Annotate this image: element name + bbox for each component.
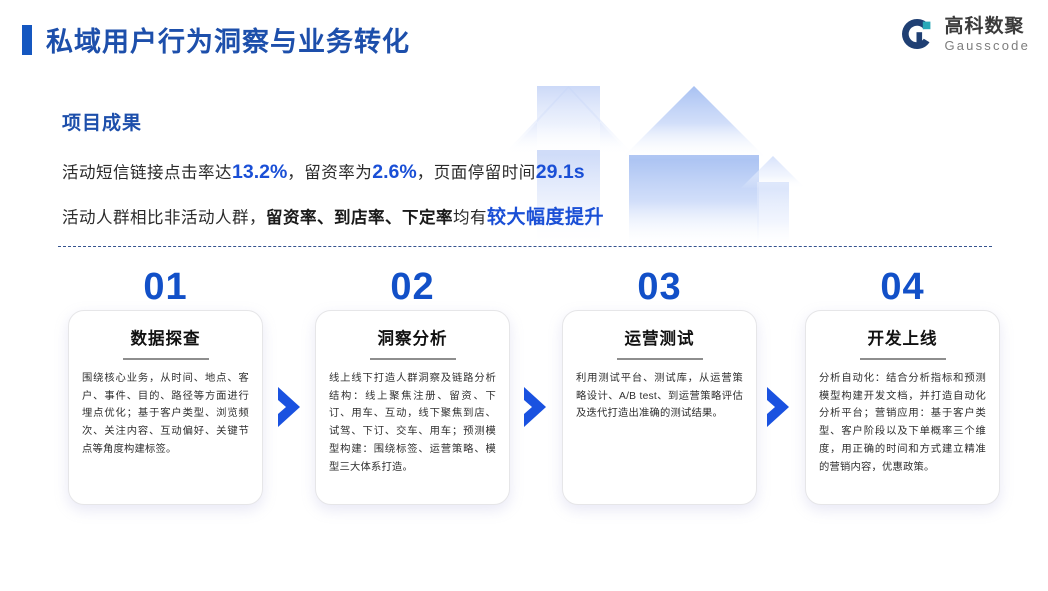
step-description-02: 线上线下打造人群洞察及链路分析结构：线上聚焦注册、留资、下订、用车、互动，线下聚… <box>329 370 496 476</box>
step-title-03: 运营测试 <box>576 325 743 349</box>
step-card-04[interactable]: 04 开发上线 分析自动化：结合分析指标和预测模型构建开发文档，并打造自动化分析… <box>805 268 1000 518</box>
logo-text: 高科数聚 Gausscode <box>944 17 1030 52</box>
results-line2-seg2: 均有 <box>453 209 487 227</box>
step-card-01[interactable]: 01 数据探查 围绕核心业务，从时间、地点、客户、事件、目的、路径等方面进行埋点… <box>68 268 263 518</box>
logo-name-en: Gausscode <box>944 39 1030 52</box>
title-block: 私域用户行为洞察与业务转化 <box>22 20 410 59</box>
metric-lead-rate: 2.6% <box>372 161 416 183</box>
page-title: 私域用户行为洞察与业务转化 <box>46 20 410 59</box>
step-title-04: 开发上线 <box>819 325 986 349</box>
results-line2-metrics: 留资率、到店率、下定率 <box>266 209 453 227</box>
step-card-body-04[interactable]: 开发上线 分析自动化：结合分析指标和预测模型构建开发文档，并打造自动化分析平台；… <box>805 310 1000 505</box>
chevron-right-icon-3 <box>765 386 791 428</box>
step-rule-04 <box>860 358 946 360</box>
results-line2-seg1: 活动人群相比非活动人群， <box>62 209 266 227</box>
results-heading: 项目成果 <box>62 108 762 135</box>
step-title-01: 数据探查 <box>82 325 249 349</box>
metric-click-rate: 13.2% <box>232 161 287 183</box>
results-line1-seg3: ，页面停留时间 <box>417 164 536 182</box>
step-number-01: 01 <box>68 268 263 306</box>
results-line-1: 活动短信链接点击率达13.2%，留资率为2.6%，页面停留时间29.1s <box>62 157 762 187</box>
results-line2-highlight: 较大幅度提升 <box>487 207 604 228</box>
chevron-right-icon-2 <box>522 386 548 428</box>
step-description-01: 围绕核心业务，从时间、地点、客户、事件、目的、路径等方面进行埋点优化；基于客户类… <box>82 370 249 459</box>
step-description-03: 利用测试平台、测试库，从运营策略设计、A/B test、到运营策略评估及迭代打造… <box>576 370 743 423</box>
step-rule-03 <box>617 358 703 360</box>
step-card-02[interactable]: 02 洞察分析 线上线下打造人群洞察及链路分析结构：线上聚焦注册、留资、下订、用… <box>315 268 510 518</box>
step-number-02: 02 <box>315 268 510 306</box>
section-divider <box>58 246 992 247</box>
step-card-body-01[interactable]: 数据探查 围绕核心业务，从时间、地点、客户、事件、目的、路径等方面进行埋点优化；… <box>68 310 263 505</box>
logo-name-cn: 高科数聚 <box>944 17 1030 36</box>
step-card-body-02[interactable]: 洞察分析 线上线下打造人群洞察及链路分析结构：线上聚焦注册、留资、下订、用车、互… <box>315 310 510 505</box>
results-line1-seg1: 活动短信链接点击率达 <box>62 164 232 182</box>
step-rule-02 <box>370 358 456 360</box>
process-steps: 01 数据探查 围绕核心业务，从时间、地点、客户、事件、目的、路径等方面进行埋点… <box>0 268 1048 518</box>
step-card-body-03[interactable]: 运营测试 利用测试平台、测试库，从运营策略设计、A/B test、到运营策略评估… <box>562 310 757 505</box>
step-rule-01 <box>123 358 209 360</box>
project-results-section: 项目成果 活动短信链接点击率达13.2%，留资率为2.6%，页面停留时间29.1… <box>62 108 762 249</box>
gausscode-logo-icon <box>899 16 935 52</box>
metric-dwell-time: 29.1s <box>536 161 585 183</box>
step-title-02: 洞察分析 <box>329 325 496 349</box>
step-card-03[interactable]: 03 运营测试 利用测试平台、测试库，从运营策略设计、A/B test、到运营策… <box>562 268 757 518</box>
page-header: 私域用户行为洞察与业务转化 高科数聚 Gausscode <box>0 0 1048 80</box>
results-line1-seg2: ，留资率为 <box>287 164 372 182</box>
step-number-04: 04 <box>805 268 1000 306</box>
step-description-04: 分析自动化：结合分析指标和预测模型构建开发文档，并打造自动化分析平台；营销应用：… <box>819 370 986 476</box>
results-line-2: 活动人群相比非活动人群，留资率、到店率、下定率均有较大幅度提升 <box>62 203 762 232</box>
brand-logo: 高科数聚 Gausscode <box>899 16 1030 52</box>
step-number-03: 03 <box>562 268 757 306</box>
chevron-right-icon-1 <box>276 386 302 428</box>
title-bullet-icon <box>22 25 32 55</box>
